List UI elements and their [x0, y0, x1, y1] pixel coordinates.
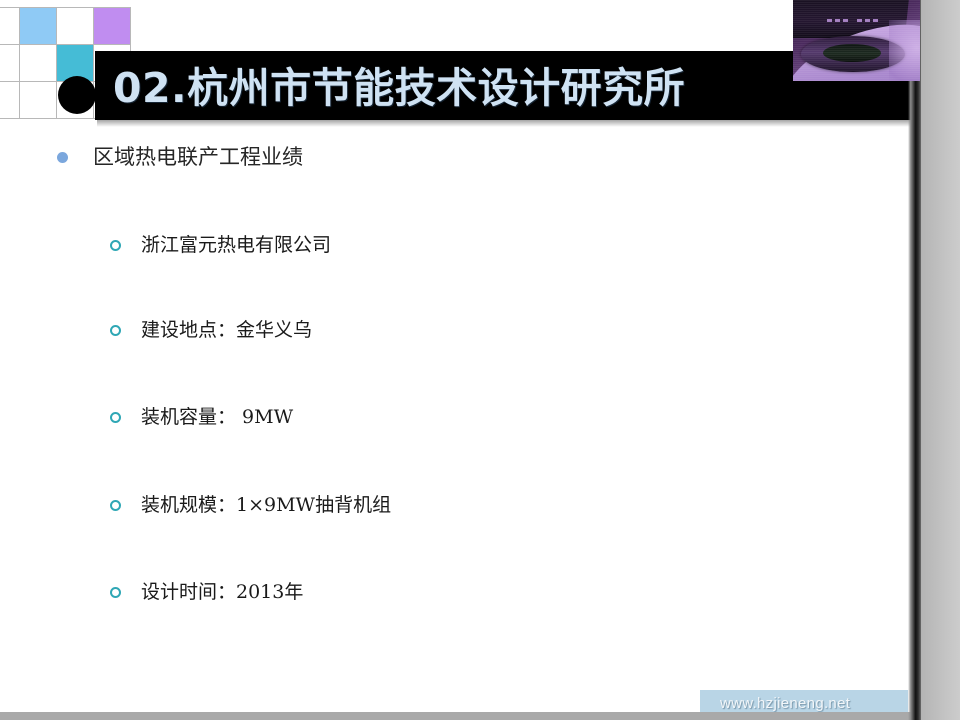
- page-title: 02.杭州市节能技术设计研究所: [113, 60, 813, 116]
- slide-outer-gray-margin: [921, 0, 960, 720]
- bullet-item-level2: 设计时间：2013年: [110, 577, 303, 607]
- title-bar-shadow: [97, 120, 920, 127]
- slide-root: 02.杭州市节能技术设计研究所 区域热电联产工程业绩: [0, 0, 960, 720]
- filled-circle-bullet-icon: [57, 152, 68, 163]
- slide-content: 区域热电联产工程业绩 浙江富元热电有限公司 建设地点：金华义乌 装机容量： 9M…: [0, 130, 920, 670]
- decor-square-violet: [94, 8, 130, 44]
- bullet-item-level1: 区域热电联产工程业绩: [57, 142, 303, 172]
- bullet-level1-label: 区域热电联产工程业绩: [93, 142, 303, 172]
- bullet-item-level2: 建设地点：金华义乌: [110, 315, 312, 345]
- bullet-level2-label: 浙江富元热电有限公司: [141, 230, 331, 260]
- footer-url-label: www.hzjieneng.net: [720, 694, 910, 712]
- bullet-item-level2: 装机规模：1×9MW抽背机组: [110, 490, 391, 520]
- decor-square-light-blue: [20, 8, 56, 44]
- hollow-circle-bullet-icon: [110, 587, 121, 598]
- bullet-item-level2: 浙江富元热电有限公司: [110, 230, 331, 260]
- bullet-level2-label: 建设地点：金华义乌: [141, 315, 312, 345]
- hollow-circle-bullet-icon: [110, 240, 121, 251]
- slide-canvas: 02.杭州市节能技术设计研究所 区域热电联产工程业绩: [0, 0, 920, 712]
- bullet-level2-label: 设计时间：2013年: [141, 577, 303, 607]
- bullet-level2-label: 装机容量： 9MW: [141, 402, 293, 432]
- hollow-circle-bullet-icon: [110, 412, 121, 423]
- bullet-level2-label: 装机规模：1×9MW抽背机组: [141, 490, 391, 520]
- hollow-circle-bullet-icon: [110, 500, 121, 511]
- bullet-item-level2: 装机容量： 9MW: [110, 402, 293, 432]
- slide-right-edge-shadow: [908, 0, 921, 720]
- decor-circle-black: [58, 76, 96, 114]
- hollow-circle-bullet-icon: [110, 325, 121, 336]
